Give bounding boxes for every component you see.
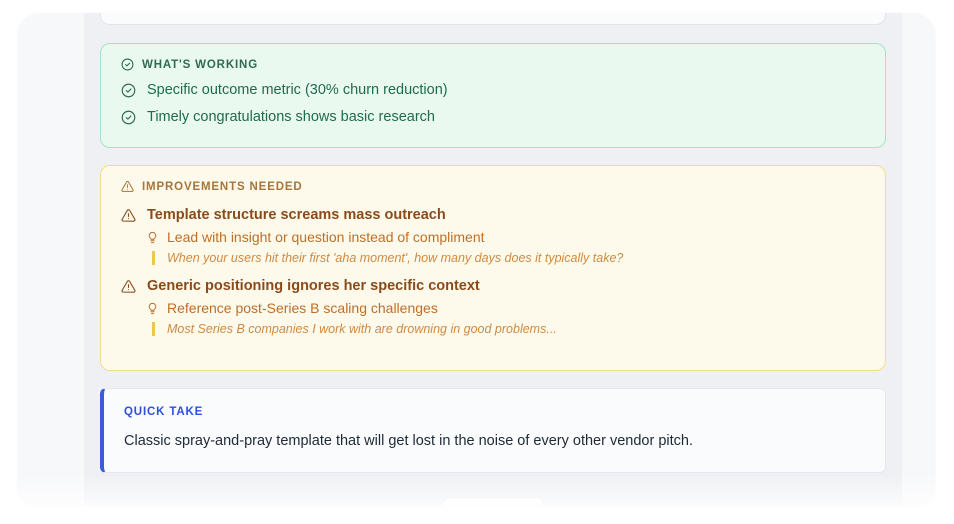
warning-triangle-icon <box>121 180 134 193</box>
improvement-example: Most Series B companies I work with are … <box>152 322 865 336</box>
check-circle-icon <box>121 110 136 125</box>
app-window-shell: WHAT'S WORKING Specific outcome metric (… <box>18 13 935 505</box>
quick-take-label: QUICK TAKE <box>124 406 865 418</box>
lightbulb-icon <box>146 302 159 315</box>
working-item: Specific outcome metric (30% churn reduc… <box>121 82 865 98</box>
improvements-needed-card: IMPROVEMENTS NEEDED <box>100 165 886 371</box>
warning-triangle-icon <box>121 279 136 294</box>
check-circle-icon <box>121 83 136 98</box>
warning-triangle-icon <box>121 208 136 223</box>
improvement-suggestion-text: Reference post-Series B scaling challeng… <box>167 300 438 316</box>
improvement-title-row: Generic positioning ignores her specific… <box>121 278 865 294</box>
improvement-suggestion-row: Reference post-Series B scaling challeng… <box>146 300 865 316</box>
shell-left-gutter <box>18 13 84 505</box>
improvement-suggestion-row: Lead with insight or question instead of… <box>146 229 865 245</box>
improvement-title-row: Template structure screams mass outreach <box>121 207 865 223</box>
whats-working-card: WHAT'S WORKING Specific outcome metric (… <box>100 43 886 148</box>
improvement-suggestion-text: Lead with insight or question instead of… <box>167 229 485 245</box>
improvement-item: Generic positioning ignores her specific… <box>121 278 865 336</box>
quick-take-card: QUICK TAKE Classic spray-and-pray templa… <box>100 388 886 473</box>
screenshot-stage: WHAT'S WORKING Specific outcome metric (… <box>0 0 954 524</box>
improvement-example: When your users hit their first 'aha mom… <box>152 251 865 265</box>
feedback-scroll-area[interactable]: WHAT'S WORKING Specific outcome metric (… <box>84 13 902 505</box>
whats-working-title: WHAT'S WORKING <box>142 59 258 71</box>
improvement-title-text: Generic positioning ignores her specific… <box>147 278 480 294</box>
working-item-text: Timely congratulations shows basic resea… <box>147 109 435 125</box>
shell-right-gutter <box>902 13 935 505</box>
improvement-item: Template structure screams mass outreach <box>121 207 865 265</box>
previous-card-partial <box>100 13 886 25</box>
improvements-title: IMPROVEMENTS NEEDED <box>142 181 303 193</box>
quick-take-body: Classic spray-and-pray template that wil… <box>124 433 865 449</box>
lightbulb-icon <box>146 231 159 244</box>
i-used-this-button[interactable]: I used this <box>442 497 544 505</box>
working-item-text: Specific outcome metric (30% churn reduc… <box>147 82 448 98</box>
improvement-title-text: Template structure screams mass outreach <box>147 207 446 223</box>
improvements-header: IMPROVEMENTS NEEDED <box>121 180 865 193</box>
working-item: Timely congratulations shows basic resea… <box>121 109 865 125</box>
check-circle-icon <box>121 58 134 71</box>
whats-working-header: WHAT'S WORKING <box>121 58 865 71</box>
